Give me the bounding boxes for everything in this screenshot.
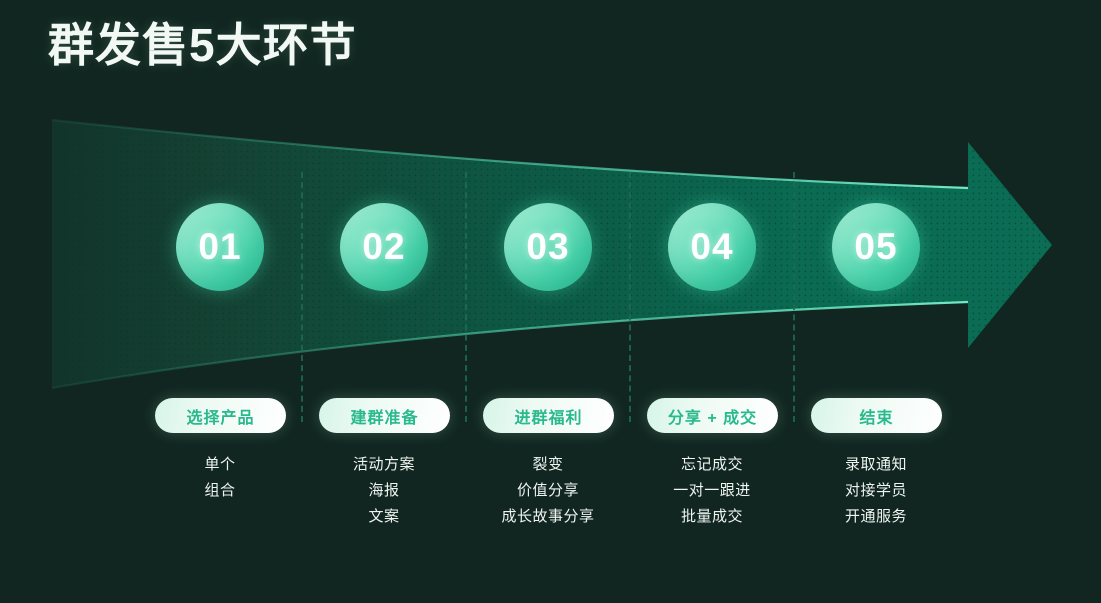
step-pill-04[interactable]: 分享 + 成交	[647, 398, 778, 433]
step-circle-03[interactable]: 03	[504, 203, 592, 291]
step-pill-01[interactable]: 选择产品	[155, 398, 286, 433]
step-number-04: 04	[690, 226, 733, 268]
step-items-05: 录取通知 对接学员 开通服务	[781, 452, 971, 530]
step-pill-05[interactable]: 结束	[811, 398, 942, 433]
step-pill-03[interactable]: 进群福利	[483, 398, 614, 433]
list-item: 对接学员	[781, 478, 971, 504]
step-number-05: 05	[854, 226, 897, 268]
list-item: 裂变	[453, 452, 643, 478]
divider-3	[629, 172, 631, 422]
divider-4	[793, 172, 795, 422]
page-title: 群发售5大环节	[48, 18, 357, 73]
list-item: 文案	[289, 504, 479, 530]
list-item: 活动方案	[289, 452, 479, 478]
step-pill-label-03: 进群福利	[514, 404, 582, 428]
list-item: 成长故事分享	[453, 504, 643, 530]
step-number-03: 03	[526, 226, 569, 268]
step-circle-04[interactable]: 04	[668, 203, 756, 291]
step-items-04: 忘记成交 一对一跟进 批量成交	[617, 452, 807, 530]
list-item: 忘记成交	[617, 452, 807, 478]
step-number-02: 02	[362, 226, 405, 268]
list-item: 单个	[125, 452, 315, 478]
list-item: 批量成交	[617, 504, 807, 530]
list-item: 组合	[125, 478, 315, 504]
step-circle-01[interactable]: 01	[176, 203, 264, 291]
step-number-01: 01	[198, 226, 241, 268]
divider-2	[465, 172, 467, 422]
step-circle-05[interactable]: 05	[832, 203, 920, 291]
list-item: 海报	[289, 478, 479, 504]
list-item: 开通服务	[781, 504, 971, 530]
slide-canvas: 群发售5大环节 01 选择产品 单个 组合 02 建群准备 活动方案 海报 文案…	[0, 0, 1101, 603]
list-item: 录取通知	[781, 452, 971, 478]
step-items-02: 活动方案 海报 文案	[289, 452, 479, 530]
step-pill-label-02: 建群准备	[350, 404, 418, 428]
step-pill-02[interactable]: 建群准备	[319, 398, 450, 433]
step-items-01: 单个 组合	[125, 452, 315, 504]
step-circle-02[interactable]: 02	[340, 203, 428, 291]
list-item: 价值分享	[453, 478, 643, 504]
list-item: 一对一跟进	[617, 478, 807, 504]
divider-1	[301, 172, 303, 422]
step-pill-label-01: 选择产品	[186, 404, 254, 428]
step-pill-label-04: 分享 + 成交	[668, 404, 757, 428]
step-items-03: 裂变 价值分享 成长故事分享	[453, 452, 643, 530]
step-pill-label-05: 结束	[859, 404, 893, 428]
